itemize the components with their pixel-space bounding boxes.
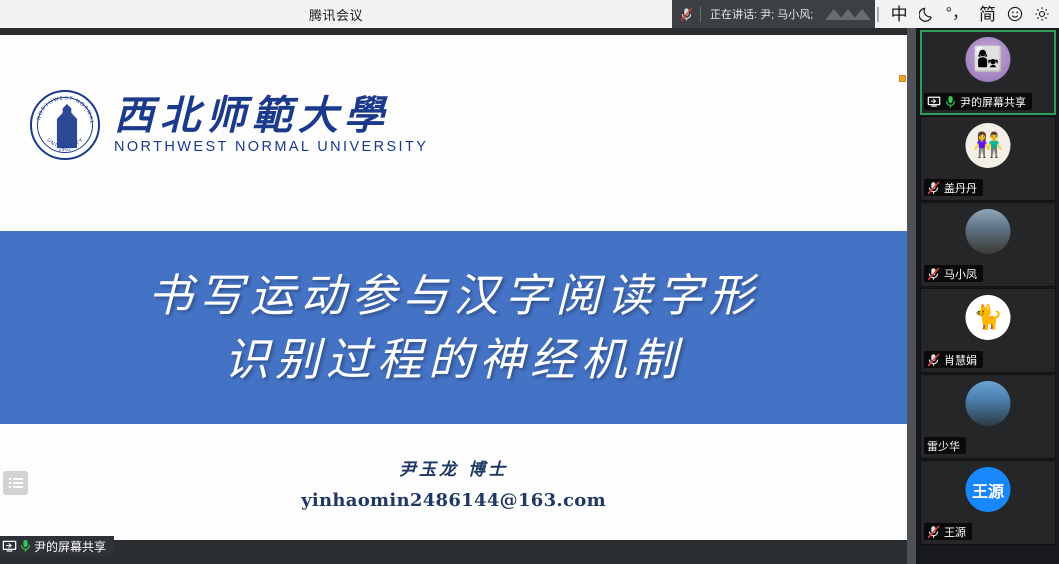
system-top-bar: 腾讯会议 正在讲话: 尹; 马小风; 中 °， 简: [0, 0, 1059, 28]
mic-muted-icon: [927, 267, 940, 281]
participant-tile[interactable]: 👫 盖丹丹: [920, 116, 1056, 201]
audio-level-chevrons: [829, 0, 871, 28]
participant-name: 雷少华: [927, 438, 960, 454]
participant-name: 马小凤: [944, 266, 977, 282]
ime-toolbar[interactable]: 中 °， 简: [875, 0, 1059, 28]
ime-settings-gear-icon[interactable]: [1034, 6, 1050, 22]
participant-scrollbar[interactable]: [907, 28, 916, 564]
ime-moon-mode-icon[interactable]: [919, 6, 935, 22]
university-logo: NORTHWEST NORMAL UNIVERSITY 1902 西北师範大學 …: [30, 90, 428, 160]
participant-name-chip: 盖丹丹: [924, 179, 983, 196]
speaking-indicator[interactable]: 正在讲话: 尹; 马小风;: [672, 0, 875, 28]
university-seal-icon: NORTHWEST NORMAL UNIVERSITY 1902: [30, 90, 100, 160]
mic-muted-icon: [927, 525, 940, 539]
slide-title: 书写运动参与汉字阅读字形识别过程的神经机制: [124, 264, 784, 392]
mic-muted-icon: [927, 181, 940, 195]
mic-muted-icon: [927, 353, 940, 367]
avatar: 王源: [966, 467, 1011, 512]
participant-name: 盖丹丹: [944, 180, 977, 196]
share-status-text: 尹的屏幕共享: [34, 538, 106, 555]
ime-handle-icon[interactable]: [877, 7, 879, 22]
university-name-en: NORTHWEST NORMAL UNIVERSITY: [114, 139, 428, 155]
participant-name-chip: 王源: [924, 523, 972, 540]
slide-title-band: 书写运动参与汉字阅读字形识别过程的神经机制: [0, 231, 907, 424]
avatar: [966, 209, 1011, 254]
ime-simplified-chinese-icon[interactable]: 简: [979, 6, 996, 23]
avatar: 👩‍👧: [966, 37, 1011, 82]
participant-tile[interactable]: 🐈 肖慧娟: [920, 288, 1056, 373]
seal-year: 1902: [32, 147, 98, 153]
share-status-label: 尹的屏幕共享: [0, 536, 114, 556]
share-bottom-strip: [0, 540, 907, 564]
avatar: [966, 381, 1011, 426]
participant-name-chip: 雷少华: [924, 437, 966, 454]
participant-name-chip: 尹的屏幕共享: [924, 93, 1032, 110]
avatar: 🐈: [966, 295, 1011, 340]
participant-name-chip: 马小凤: [924, 265, 983, 282]
author-name: 尹玉龙 博士: [0, 455, 907, 480]
mic-on-icon: [20, 539, 31, 553]
participant-name: 肖慧娟: [944, 352, 977, 368]
participant-tiles: 👩‍👧 尹的屏幕共享👫 盖丹丹 马小凤🐈 肖慧娟雷少华王源 王源: [916, 30, 1059, 546]
annotation-marker: [899, 75, 906, 82]
participant-tile[interactable]: 雷少华: [920, 374, 1056, 459]
author-email: yinhaomin2486144@163.com: [0, 490, 907, 511]
participant-name: 尹的屏幕共享: [960, 94, 1026, 110]
app-title: 腾讯会议: [0, 0, 672, 28]
ime-emoji-icon[interactable]: [1007, 6, 1023, 22]
university-name-cn: 西北师範大學: [114, 95, 428, 137]
speaking-label: 正在讲话: 尹; 马小风;: [710, 6, 813, 22]
ime-language-chinese-icon[interactable]: 中: [891, 6, 908, 23]
mic-on-icon: [945, 95, 956, 109]
share-top-strip: [0, 28, 907, 35]
participant-name: 王源: [944, 524, 966, 540]
ime-punctuation-icon[interactable]: °，: [946, 6, 968, 22]
shared-screen-region[interactable]: NORTHWEST NORMAL UNIVERSITY 1902 西北师範大學 …: [0, 28, 907, 564]
participant-name-chip: 肖慧娟: [924, 351, 983, 368]
presentation-slide[interactable]: NORTHWEST NORMAL UNIVERSITY 1902 西北师範大學 …: [0, 35, 907, 540]
participant-tile[interactable]: 👩‍👧 尹的屏幕共享: [920, 30, 1056, 115]
participant-rail[interactable]: 👩‍👧 尹的屏幕共享👫 盖丹丹 马小凤🐈 肖慧娟雷少华王源 王源: [907, 28, 1059, 564]
avatar: 👫: [966, 123, 1011, 168]
participant-tile[interactable]: 王源 王源: [920, 460, 1056, 545]
screen-share-icon: [927, 96, 941, 108]
author-block: 尹玉龙 博士 yinhaomin2486144@163.com: [0, 455, 907, 511]
speaking-divider: [700, 6, 701, 22]
screen-share-icon: [2, 540, 17, 553]
slideshow-menu-icon[interactable]: [3, 471, 28, 495]
mic-muted-icon: [680, 7, 693, 22]
participant-tile[interactable]: 马小凤: [920, 202, 1056, 287]
